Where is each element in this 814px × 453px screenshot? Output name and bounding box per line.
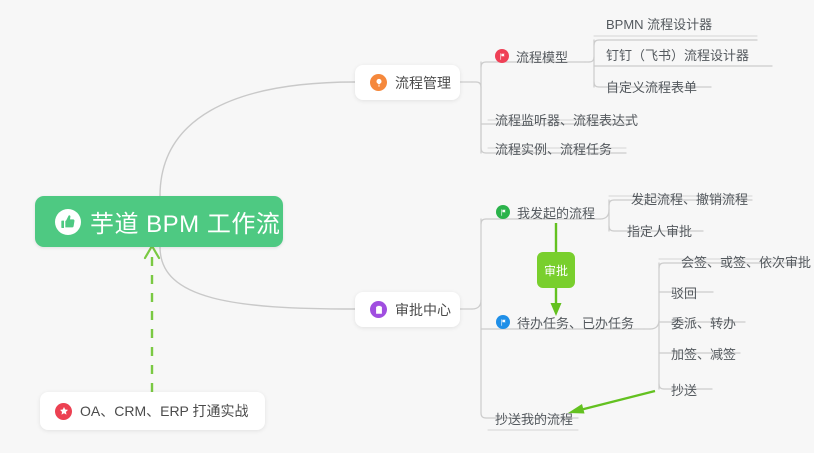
- node-cc-to-me[interactable]: 抄送我的流程: [488, 406, 576, 430]
- node-reject[interactable]: 驳回: [664, 280, 711, 304]
- node-label: 我发起的流程: [517, 203, 595, 222]
- flag-green-icon: [496, 205, 510, 219]
- lightbulb-icon: [370, 74, 387, 91]
- node-process-listener[interactable]: 流程监听器、流程表达式: [488, 107, 628, 131]
- node-cc[interactable]: 抄送: [664, 377, 710, 401]
- callout-node[interactable]: OA、CRM、ERP 打通实战: [40, 392, 265, 430]
- node-label: BPMN 流程设计器: [606, 14, 712, 33]
- clipboard-icon: [370, 301, 387, 318]
- node-label: 发起流程、撤销流程: [631, 189, 748, 208]
- callout-label: OA、CRM、ERP 打通实战: [80, 401, 249, 421]
- node-label: 流程模型: [516, 47, 568, 66]
- callout-arrow: [145, 246, 159, 392]
- node-start-cancel-process[interactable]: 发起流程、撤销流程: [624, 186, 750, 210]
- node-assignee-approval[interactable]: 指定人审批: [620, 218, 701, 242]
- node-label: 自定义流程表单: [606, 77, 697, 96]
- node-label: 抄送我的流程: [495, 409, 573, 428]
- node-countersign[interactable]: 会签、或签、依次审批: [674, 249, 804, 273]
- branch-label: 流程管理: [395, 73, 451, 93]
- flag-blue-icon: [496, 315, 510, 329]
- node-bpmn-designer[interactable]: BPMN 流程设计器: [599, 11, 754, 35]
- node-label: 指定人审批: [627, 221, 692, 240]
- cc-flow-arrow: [568, 391, 655, 414]
- node-custom-form[interactable]: 自定义流程表单: [599, 74, 707, 98]
- node-delegate-transfer[interactable]: 委派、转办: [664, 310, 743, 334]
- node-label: 钉钉（飞书）流程设计器: [606, 45, 749, 64]
- branch-label: 审批中心: [395, 300, 451, 320]
- approval-tag-label: 审批: [544, 262, 568, 279]
- node-label: 会签、或签、依次审批: [681, 252, 811, 271]
- node-label: 抄送: [671, 380, 697, 399]
- node-process-instance[interactable]: 流程实例、流程任务: [488, 136, 624, 160]
- root-label: 芋道 BPM 工作流: [90, 204, 280, 239]
- node-label: 驳回: [671, 283, 697, 302]
- branch-approval-center[interactable]: 审批中心: [355, 292, 460, 327]
- flag-red-icon: [495, 49, 509, 63]
- node-label: 委派、转办: [671, 313, 736, 332]
- node-label: 待办任务、已办任务: [517, 313, 634, 332]
- node-todo-done-tasks[interactable]: 待办任务、已办任务: [489, 310, 639, 334]
- root-node[interactable]: 芋道 BPM 工作流: [35, 196, 283, 247]
- mindmap-canvas: 芋道 BPM 工作流 OA、CRM、ERP 打通实战 流程管理 流程模型 流程监…: [0, 0, 814, 453]
- node-label: 流程监听器、流程表达式: [495, 110, 638, 129]
- thumbs-up-icon: [55, 209, 81, 235]
- node-my-started-process[interactable]: 我发起的流程: [489, 200, 595, 224]
- star-icon: [55, 403, 72, 420]
- node-label: 流程实例、流程任务: [495, 139, 612, 158]
- node-process-model[interactable]: 流程模型: [488, 44, 585, 68]
- node-label: 加签、减签: [671, 344, 736, 363]
- node-add-remove-sign[interactable]: 加签、减签: [664, 341, 738, 365]
- node-dingtalk-designer[interactable]: 钉钉（飞书）流程设计器: [599, 42, 769, 66]
- approval-tag[interactable]: 审批: [537, 252, 575, 288]
- branch-process-management[interactable]: 流程管理: [355, 65, 460, 100]
